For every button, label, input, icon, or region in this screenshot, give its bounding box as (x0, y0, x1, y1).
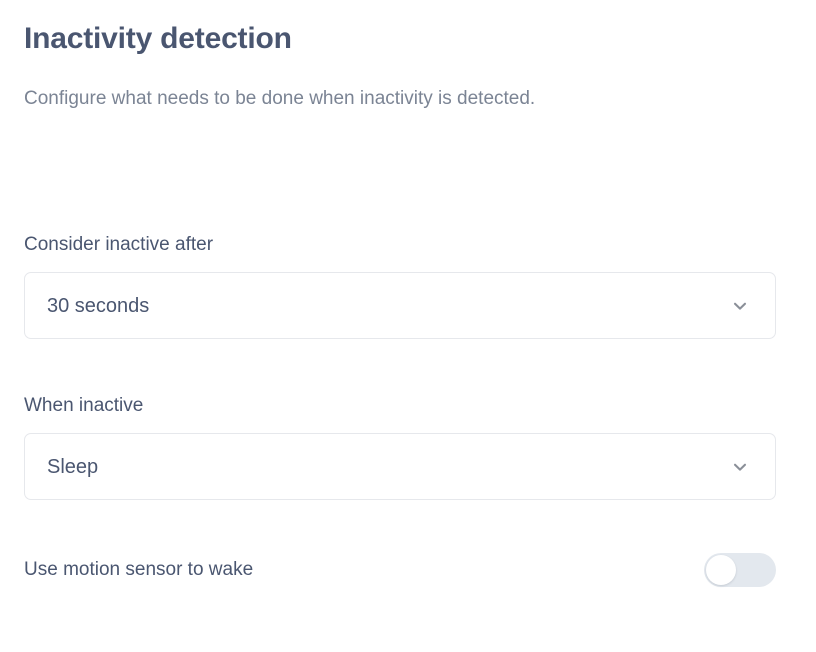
select-consider-inactive-after[interactable]: 30 seconds (24, 272, 776, 339)
chevron-down-icon (731, 458, 749, 476)
toggle-use-motion-sensor-to-wake[interactable] (704, 553, 776, 587)
field-consider-inactive-after: Consider inactive after 30 seconds (24, 232, 776, 339)
page-subtitle: Configure what needs to be done when ina… (24, 86, 535, 112)
field-when-inactive: When inactive Sleep (24, 393, 776, 500)
label-use-motion-sensor-to-wake: Use motion sensor to wake (24, 557, 253, 583)
toggle-knob (706, 555, 736, 585)
label-consider-inactive-after: Consider inactive after (24, 232, 776, 258)
select-value-when-inactive: Sleep (47, 454, 731, 480)
inactivity-detection-panel: Inactivity detection Configure what need… (0, 0, 816, 652)
select-value-consider-inactive-after: 30 seconds (47, 293, 731, 319)
chevron-down-icon (731, 297, 749, 315)
page-title: Inactivity detection (24, 20, 292, 58)
row-use-motion-sensor-to-wake: Use motion sensor to wake (24, 552, 776, 588)
label-when-inactive: When inactive (24, 393, 776, 419)
select-when-inactive[interactable]: Sleep (24, 433, 776, 500)
